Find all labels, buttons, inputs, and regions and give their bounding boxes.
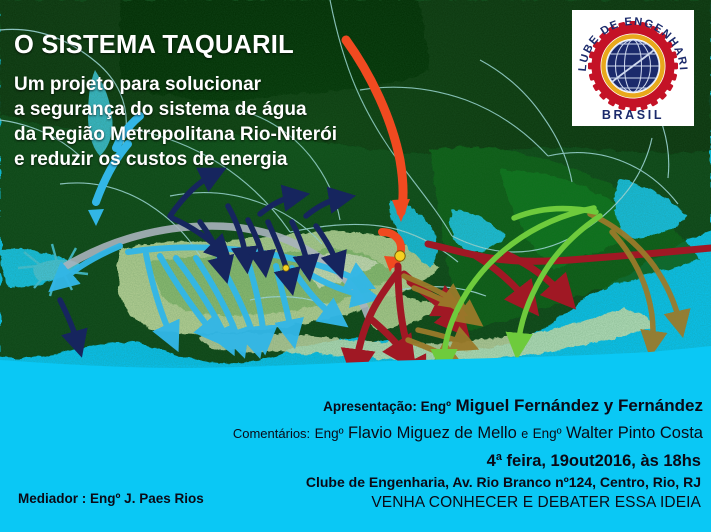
mediator-line: Mediador : Engº J. Paes Rios (18, 491, 204, 506)
event-date: 4ª feira, 19out2016, às 18hs (487, 452, 701, 471)
presenter-label: Apresentação: Engº (323, 399, 451, 414)
logo-graphic: CLUBE DE ENGENHARIA BRASIL (572, 10, 694, 126)
commentator-1-title: Engº (315, 426, 344, 441)
map-marker-point (395, 251, 405, 261)
commentators-line: Comentários: Engº Flavio Miguez de Mello… (233, 424, 703, 443)
subtitle-line-3: da Região Metropolitana Rio-Niterói (14, 122, 337, 147)
commentators-conjunction: e (521, 427, 528, 441)
presenter-line: Apresentação: Engº Miguel Fernández y Fe… (323, 396, 703, 416)
commentators-label: Comentários: (233, 426, 310, 441)
poster-title: O SISTEMA TAQUARIL (14, 31, 294, 60)
commentator-2-title: Engº (533, 426, 562, 441)
subtitle-line-2: a segurança do sistema de água (14, 97, 337, 122)
call-to-action: VENHA CONHECER E DEBATER ESSA IDEIA (371, 494, 701, 512)
globe-icon (607, 40, 659, 92)
poster-root: O SISTEMA TAQUARIL Um projeto para soluc… (0, 0, 711, 532)
poster-subtitle: Um projeto para solucionar a segurança d… (14, 72, 337, 172)
commentator-1-name: Flavio Miguez de Mello (348, 424, 517, 442)
event-venue: Clube de Engenharia, Av. Rio Branco nº12… (306, 474, 701, 490)
subtitle-line-1: Um projeto para solucionar (14, 72, 337, 97)
logo-country-text: BRASIL (602, 108, 664, 122)
map-marker-point-secondary (283, 265, 289, 271)
credits-block: Apresentação: Engº Miguel Fernández y Fe… (0, 396, 711, 532)
subtitle-line-4: e reduzir os custos de energia (14, 147, 337, 172)
presenter-name: Miguel Fernández y Fernández (456, 396, 704, 415)
commentator-2-name: Walter Pinto Costa (566, 424, 703, 442)
clube-de-engenharia-logo: CLUBE DE ENGENHARIA BRASIL (572, 10, 694, 126)
